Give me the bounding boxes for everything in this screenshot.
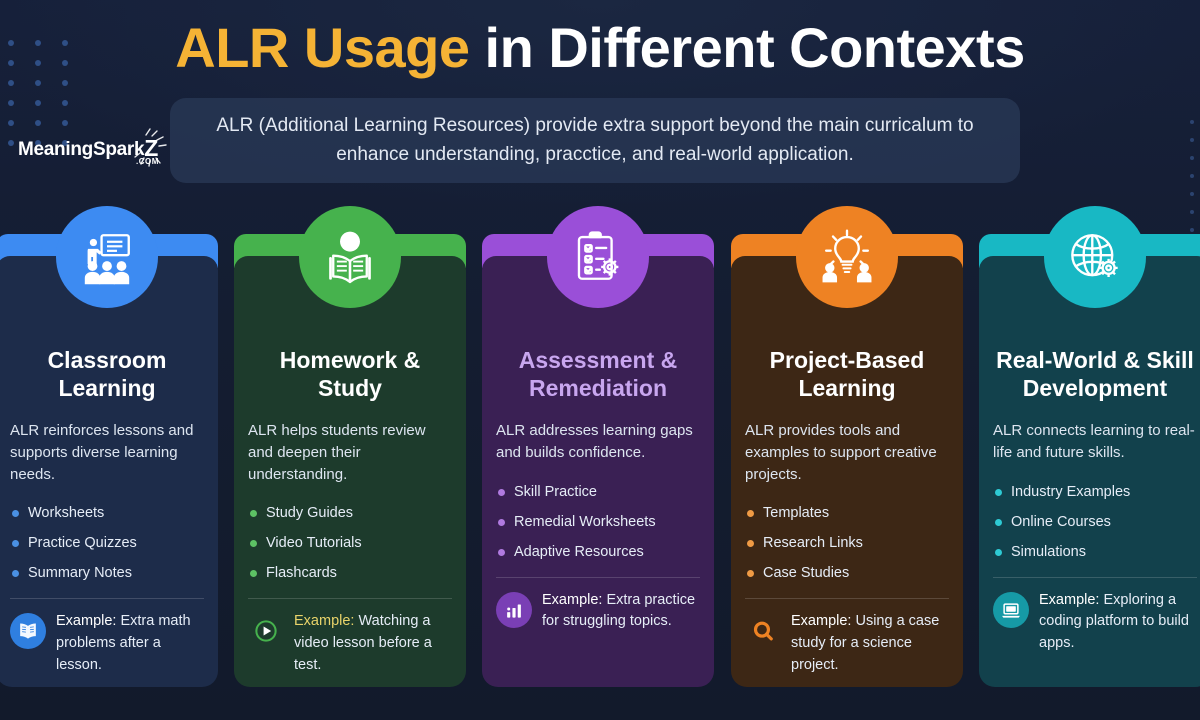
card-description: ALR connects learning to real-life and f… (993, 420, 1197, 464)
list-item: Worksheets (10, 503, 204, 524)
list-item: Templates (745, 503, 949, 524)
dot (1190, 210, 1194, 214)
card-example: Example: Extra practice for struggling t… (496, 590, 700, 634)
divider (248, 598, 452, 599)
magnifier-icon (745, 613, 781, 649)
bar-chart-icon (496, 592, 532, 628)
list-item: Research Links (745, 533, 949, 554)
list-item: Adaptive Resources (496, 542, 700, 563)
brand-logo-text: MeaningSparkZ (18, 134, 188, 161)
card-description: ALR provides tools and examples to suppo… (745, 420, 949, 485)
brand-logo-name: MeaningSpark (18, 139, 144, 160)
card-example-text: Example: Exploring a coding platform to … (1039, 590, 1197, 655)
card-resource-list: Study GuidesVideo TutorialsFlashcards (248, 503, 452, 584)
card-example-label: Example: (294, 613, 354, 629)
page-title-plain: in Different Contexts (469, 16, 1024, 79)
list-item: Remedial Worksheets (496, 512, 700, 533)
brand-logo: MeaningSparkZ .COM (18, 134, 188, 178)
open-book-icon (10, 613, 46, 649)
card-classroom-learning[interactable]: Classroom LearningALR reinforces lessons… (0, 228, 218, 687)
page-title: ALR Usage in Different Contexts (0, 16, 1200, 80)
list-item: Industry Examples (993, 482, 1197, 503)
card-body: Real-World & Skill DevelopmentALR connec… (979, 256, 1200, 687)
list-item: Flashcards (248, 563, 452, 584)
card-example-label: Example: (56, 613, 116, 629)
list-item: Case Studies (745, 563, 949, 584)
card-title: Classroom Learning (10, 346, 204, 402)
card-example: Example: Watching a video lesson before … (248, 611, 452, 676)
card-resource-list: TemplatesResearch LinksCase Studies (745, 503, 949, 584)
list-item: Online Courses (993, 512, 1197, 533)
person-reading-book-icon (299, 206, 401, 308)
card-title: Project-Based Learning (745, 346, 949, 402)
card-example: Example: Using a case study for a scienc… (745, 611, 949, 676)
card-real-world-skill-development[interactable]: Real-World & Skill DevelopmentALR connec… (979, 228, 1200, 687)
card-resource-list: WorksheetsPractice QuizzesSummary Notes (10, 503, 204, 584)
card-example: Example: Exploring a coding platform to … (993, 590, 1197, 655)
card-example-text: Example: Watching a video lesson before … (294, 611, 452, 676)
card-body: Homework & StudyALR helps students revie… (234, 256, 466, 687)
globe-gear-icon (1044, 206, 1146, 308)
classroom-teaching-icon (56, 206, 158, 308)
divider (993, 577, 1197, 578)
list-item: Video Tutorials (248, 533, 452, 554)
card-project-based-learning[interactable]: Project-Based LearningALR provides tools… (731, 228, 963, 687)
list-item: Study Guides (248, 503, 452, 524)
play-circle-icon (248, 613, 284, 649)
card-example-label: Example: (542, 592, 602, 608)
divider (10, 598, 204, 599)
page-title-accent: ALR Usage (175, 16, 469, 79)
card-title: Assessment & Remediation (496, 346, 700, 402)
card-resource-list: Industry ExamplesOnline CoursesSimulatio… (993, 482, 1197, 563)
card-assessment-remediation[interactable]: Assessment & RemediationALR addresses le… (482, 228, 714, 687)
list-item: Skill Practice (496, 482, 700, 503)
card-example-text: Example: Extra math problems after a les… (56, 611, 204, 676)
card-title: Real-World & Skill Development (993, 346, 1197, 402)
subtitle-box: ALR (Additional Learning Resources) prov… (170, 98, 1020, 183)
laptop-icon (993, 592, 1029, 628)
subtitle-text: ALR (Additional Learning Resources) prov… (196, 112, 994, 169)
card-description: ALR helps students review and deepen the… (248, 420, 452, 485)
card-body: Project-Based LearningALR provides tools… (731, 256, 963, 687)
lightbulb-people-icon (796, 206, 898, 308)
card-resource-list: Skill PracticeRemedial WorksheetsAdaptiv… (496, 482, 700, 563)
card-example: Example: Extra math problems after a les… (10, 611, 204, 676)
card-body: Classroom LearningALR reinforces lessons… (0, 256, 218, 687)
list-item: Practice Quizzes (10, 533, 204, 554)
card-title: Homework & Study (248, 346, 452, 402)
card-description: ALR reinforces lessons and supports dive… (10, 420, 204, 485)
divider (745, 598, 949, 599)
list-item: Simulations (993, 542, 1197, 563)
card-description: ALR addresses learning gaps and builds c… (496, 420, 700, 464)
card-example-label: Example: (791, 613, 851, 629)
card-body: Assessment & RemediationALR addresses le… (482, 256, 714, 687)
card-homework-study[interactable]: Homework & StudyALR helps students revie… (234, 228, 466, 687)
list-item: Summary Notes (10, 563, 204, 584)
brand-logo-domain: .COM (136, 157, 159, 166)
infographic-page: ALR Usage in Different Contexts ALR (Add… (0, 0, 1200, 720)
card-example-text: Example: Extra practice for struggling t… (542, 590, 700, 634)
card-example-label: Example: (1039, 592, 1099, 608)
clipboard-gear-icon (547, 206, 649, 308)
cards-row: Classroom LearningALR reinforces lessons… (0, 228, 1200, 688)
divider (496, 577, 700, 578)
card-example-text: Example: Using a case study for a scienc… (791, 611, 949, 676)
